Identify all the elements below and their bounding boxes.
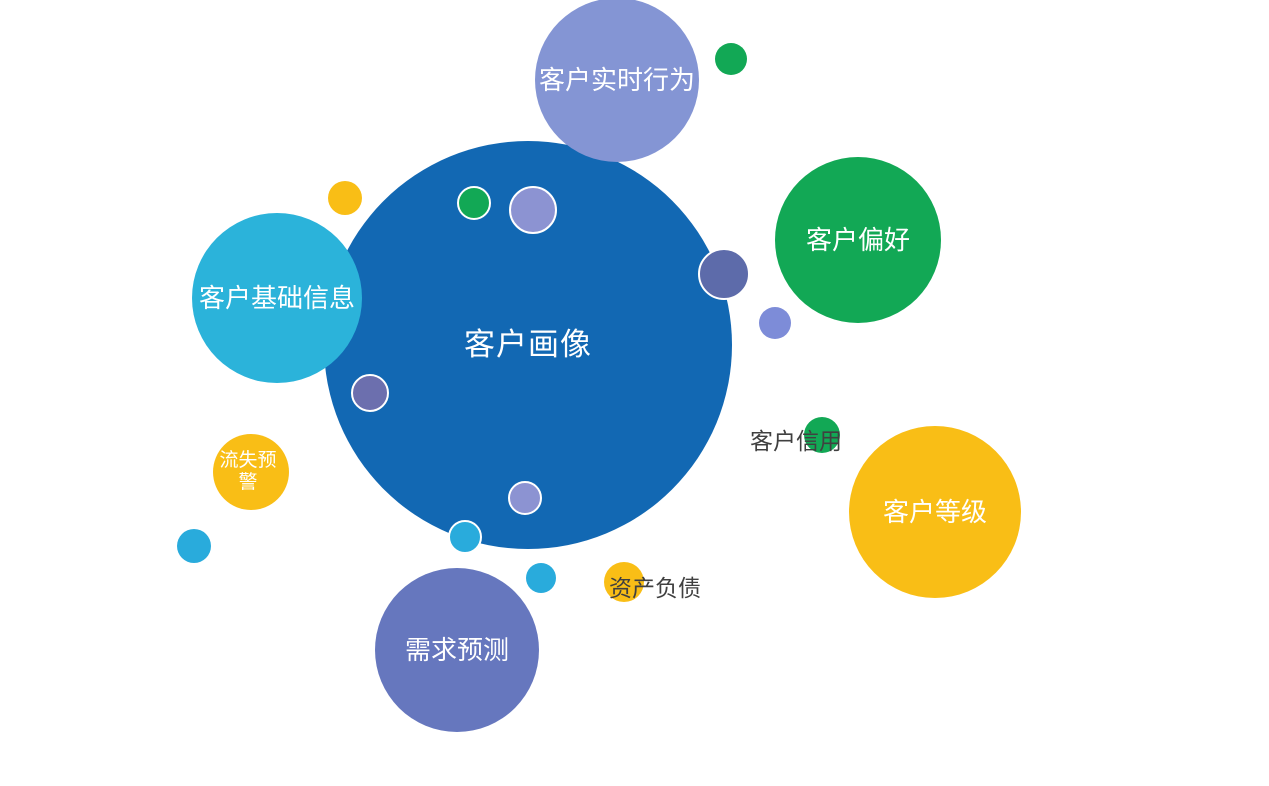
dot-yellow-left-upper	[328, 181, 362, 215]
dot-green-inner	[457, 186, 491, 220]
dot-purple-inner-left	[351, 374, 389, 412]
bubble-basic-info-label: 客户基础信息	[192, 283, 362, 314]
dot-slate-right-edge	[698, 248, 750, 300]
hub-bubble-label: 客户画像	[324, 327, 732, 364]
bubble-realtime-behavior[interactable]: 客户实时行为	[535, 0, 699, 162]
dot-cyan-bottom-edge	[448, 520, 482, 554]
bubble-demand-forecast[interactable]: 需求预测	[375, 568, 539, 732]
bubble-churn-alert-label: 流失预警	[207, 450, 289, 495]
dot-cyan-left-low	[177, 529, 211, 563]
bubble-grade-label: 客户等级	[849, 497, 1021, 528]
bubble-realtime-behavior-label: 客户实时行为	[535, 65, 699, 96]
dot-green-top-right	[715, 43, 747, 75]
bubble-assets-liabilities-label: 资产负债	[609, 569, 701, 603]
bubble-diagram-canvas: 客户画像客户实时行为客户偏好客户等级需求预测客户基础信息流失预警客户信用资产负债	[0, 0, 1269, 786]
dot-purple-inner-low	[508, 481, 542, 515]
bubble-basic-info[interactable]: 客户基础信息	[192, 213, 362, 383]
bubble-preference-label: 客户偏好	[775, 225, 941, 256]
bubble-grade[interactable]: 客户等级	[849, 426, 1021, 598]
bubble-demand-forecast-label: 需求预测	[375, 635, 539, 666]
dot-purple-right-out	[759, 307, 791, 339]
bubble-preference[interactable]: 客户偏好	[775, 157, 941, 323]
bubble-credit-label: 客户信用	[750, 422, 842, 456]
dot-purple-inner-top	[509, 186, 557, 234]
bubble-churn-alert[interactable]: 流失预警	[213, 434, 289, 510]
dot-cyan-bottom-out	[526, 563, 556, 593]
